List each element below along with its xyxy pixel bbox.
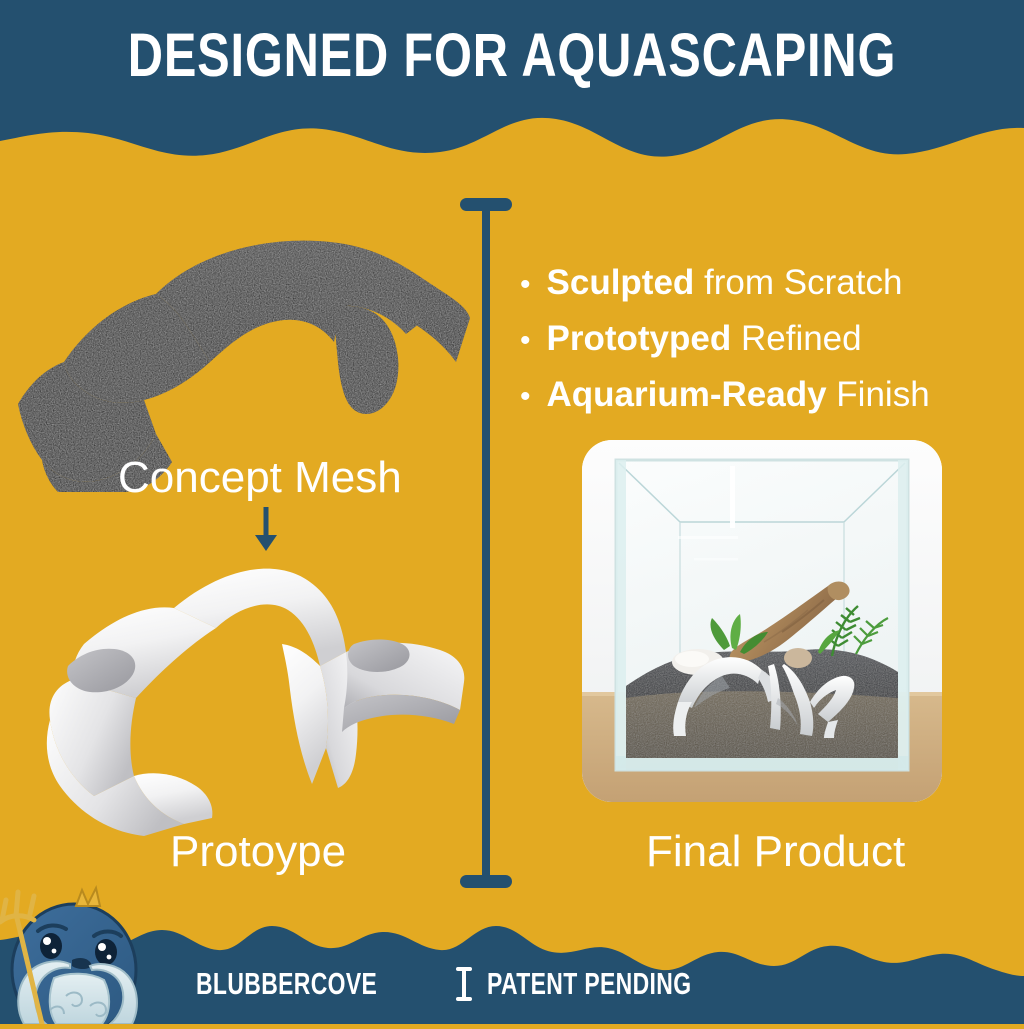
aquarium-tank-photo <box>582 440 942 802</box>
final-product-label: Final Product <box>646 826 905 878</box>
feature-bullet-list: • Sculpted from Scratch • Prototyped Ref… <box>520 256 1020 424</box>
concept-mesh-label: Concept Mesh <box>118 452 402 504</box>
brand-name: BLUBBERCOVE <box>196 966 377 1002</box>
list-item: • Aquarium-Ready Finish <box>520 368 1020 424</box>
list-item: • Prototyped Refined <box>520 312 1020 368</box>
bullet-strong-text: Prototyped <box>547 319 732 358</box>
bullet-marker: • <box>520 258 531 312</box>
bullet-rest-text: from Scratch <box>694 263 902 302</box>
patent-notice: PATENT PENDING <box>487 966 691 1002</box>
bullet-rest-text: Refined <box>731 319 861 358</box>
infographic-canvas: DESIGNED FOR AQUASCAPING <box>0 0 1024 1024</box>
poseidon-seal-mascot-logo <box>0 874 170 1024</box>
bullet-marker: • <box>520 370 531 424</box>
i-beam-divider-small <box>455 967 473 1001</box>
bullet-marker: • <box>520 314 531 368</box>
prototype-label: Protoype <box>170 826 346 878</box>
i-beam-divider <box>455 198 517 888</box>
bullet-rest-text: Finish <box>827 375 930 414</box>
arrow-down-icon <box>248 505 284 553</box>
bullet-strong-text: Sculpted <box>547 263 695 302</box>
bullet-strong-text: Aquarium-Ready <box>547 375 827 414</box>
page-title: DESIGNED FOR AQUASCAPING <box>102 22 921 88</box>
prototype-clay-render <box>24 548 484 838</box>
list-item: • Sculpted from Scratch <box>520 256 1020 312</box>
footer-caption: BLUBBERCOVE PATENT PENDING <box>196 966 763 1002</box>
